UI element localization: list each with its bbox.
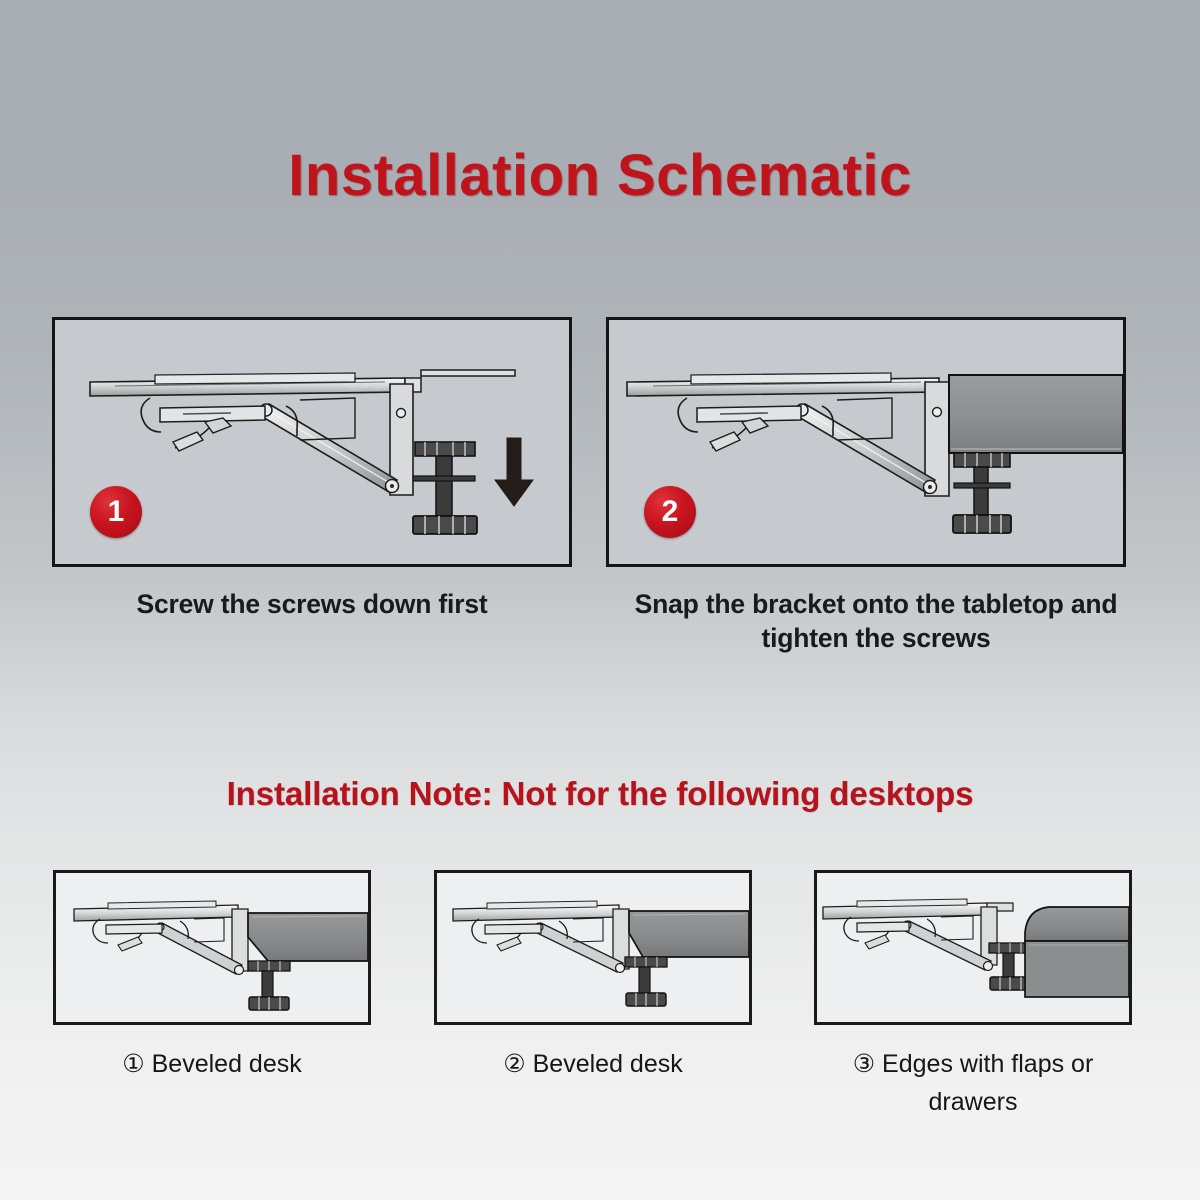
bracket-support-arm [260, 404, 399, 493]
clamp-screw-assembly [953, 453, 1011, 533]
step-caption-2: Snap the bracket onto the tabletop and t… [596, 588, 1156, 655]
bracket-end-plate [981, 907, 997, 965]
arrow-down-icon [495, 438, 533, 506]
beveled-desk-diagram-1 [56, 873, 368, 1022]
bracket-support-arm [535, 923, 625, 973]
bad-case-caption-1: ① Beveled desk [53, 1046, 371, 1084]
step-badge-2: 2 [644, 486, 696, 538]
bad-case-panel-2 [434, 870, 752, 1025]
bracket-support-arm [903, 921, 993, 971]
desk-with-flap-and-drawer [1025, 907, 1129, 997]
beveled-desk-diagram-2 [437, 873, 749, 1022]
bracket-support-arm [156, 923, 244, 975]
bracket-support-arm [796, 404, 937, 494]
bad-case-caption-3: ③ Edges with flaps or drawers [814, 1046, 1132, 1121]
installation-note-heading: Installation Note: Not for the following… [0, 775, 1200, 813]
beveled-tabletop-slab [248, 913, 368, 961]
page-title: Installation Schematic [0, 142, 1200, 209]
step-panel-1: 1 [52, 317, 572, 567]
edges-with-flaps-diagram [817, 873, 1129, 1022]
step-badge-1: 1 [90, 486, 142, 538]
bad-case-caption-2: ② Beveled desk [434, 1046, 752, 1084]
step-panel-2: 2 [606, 317, 1126, 567]
bracket-top-rail [90, 370, 515, 396]
installation-schematic-page: Installation Schematic [0, 0, 1200, 1200]
clamp-screw-assembly [248, 961, 290, 1010]
beveled-tabletop-slab [629, 911, 749, 957]
clamp-screw-assembly [413, 442, 477, 534]
tabletop-slab [949, 375, 1123, 453]
clamp-screw-assembly [625, 957, 667, 1006]
bad-case-panel-1 [53, 870, 371, 1025]
step-caption-1: Screw the screws down first [52, 588, 572, 622]
bad-case-panel-3 [814, 870, 1132, 1025]
bracket-top-rail [627, 373, 939, 396]
